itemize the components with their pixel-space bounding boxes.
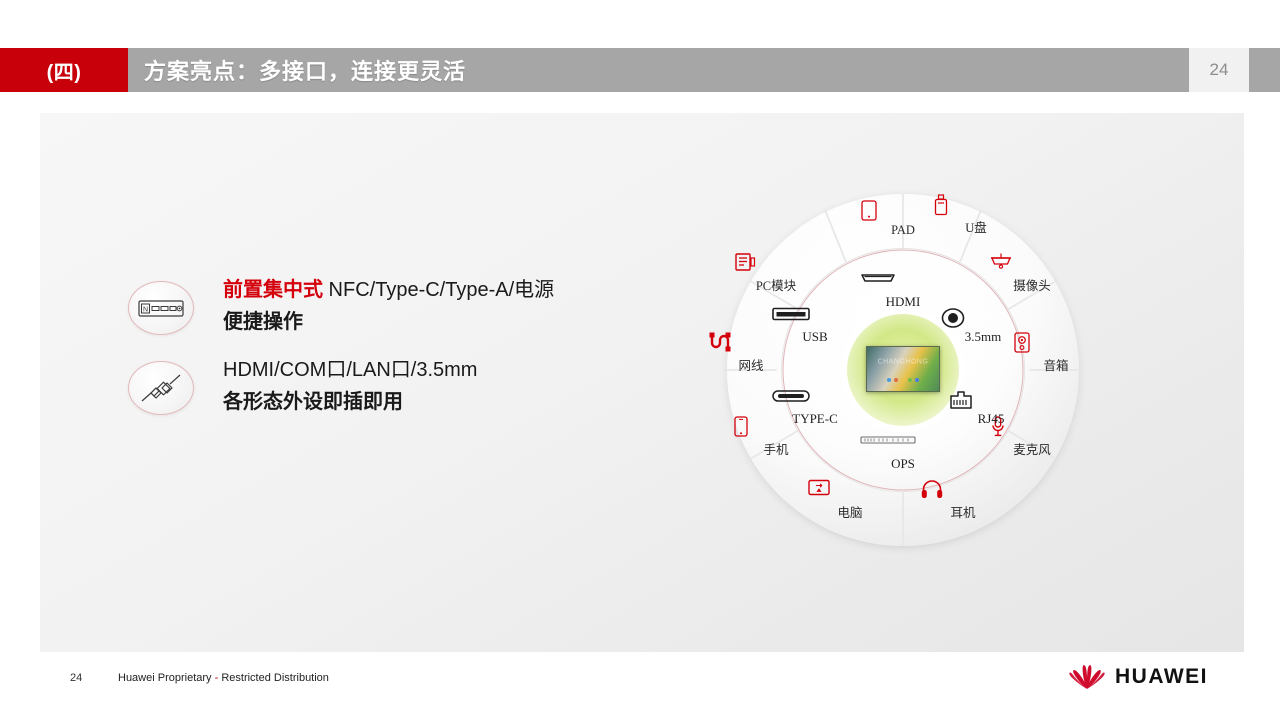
port-label-audio-jack: 3.5mm <box>940 329 1026 345</box>
cable-connector-icon <box>128 361 194 415</box>
headphones-icon <box>921 479 1005 501</box>
audio-jack-icon <box>940 307 1026 329</box>
port-item-ops[interactable]: OPS <box>860 434 946 472</box>
title-band: (四) 方案亮点：多接口，连接更灵活 <box>0 48 1280 92</box>
port-label-type-c: TYPE-C <box>772 411 858 427</box>
ring-label-udisk: U盘 <box>934 217 1018 236</box>
highlight-emphasis: 前置集中式 <box>223 279 323 301</box>
page-number-badge: 24 <box>1189 48 1249 92</box>
tablet-icon <box>861 200 945 222</box>
ops-slot-icon <box>860 434 946 456</box>
footer-notice-before: Huawei Proprietary <box>118 672 215 684</box>
usb-port-icon <box>772 307 858 329</box>
camera-dome-icon <box>990 252 1074 274</box>
highlight-rest: NFC/Type-C/Type-A/电源 <box>323 279 554 301</box>
huawei-wordmark: HUAWEI <box>1115 665 1208 689</box>
slide-root: (四) 方案亮点：多接口，连接更灵活 24 N <box>0 0 1280 720</box>
type-c-port-icon <box>772 389 858 411</box>
highlight-line-2a: HDMI/COM口/LAN口/3.5mm <box>223 355 477 385</box>
page-number-badge-label: 24 <box>1210 60 1229 80</box>
monitor-icon <box>808 479 892 501</box>
port-label-usb: USB <box>772 329 858 345</box>
port-item-usb[interactable]: USB <box>772 307 858 345</box>
svg-text:N: N <box>143 306 148 313</box>
section-number-block: (四) <box>0 48 128 92</box>
speaker-icon <box>1014 332 1098 354</box>
port-item-audio-jack[interactable]: 3.5mm <box>940 307 1026 345</box>
footer-page-number: 24 <box>70 672 82 684</box>
port-label-ops: OPS <box>860 456 946 472</box>
pc-module-icon <box>734 252 818 274</box>
highlight-text-1: 前置集中式 NFC/Type-C/Type-A/电源 便捷操作 <box>223 275 554 339</box>
ring-item-pad[interactable]: PAD <box>861 200 945 238</box>
highlight-row-1: N 前置集中式 NFC/Type-C/Type-A/电源 便捷操作 <box>128 275 648 355</box>
ring-item-computer[interactable]: 电脑 <box>808 479 892 521</box>
usb-flash-icon <box>934 194 1018 216</box>
highlight-line-1b: 便捷操作 <box>223 305 554 339</box>
highlight-line-1a: 前置集中式 NFC/Type-C/Type-A/电源 <box>223 275 554 305</box>
footer-notice-after: Restricted Distribution <box>218 672 329 684</box>
footer-notice: Huawei Proprietary - Restricted Distribu… <box>118 672 329 684</box>
ring-item-pc-module[interactable]: PC模块 <box>734 252 818 294</box>
port-item-hdmi[interactable]: HDMI <box>860 272 946 310</box>
ring-label-pad: PAD <box>861 223 945 238</box>
ring-item-udisk[interactable]: U盘 <box>934 194 1018 236</box>
port-label-hdmi: HDMI <box>860 294 946 310</box>
highlight-line-2b: 各形态外设即插即用 <box>223 385 477 419</box>
front-port-strip-icon: N <box>128 281 194 335</box>
screen-dock-dots <box>887 378 919 382</box>
ring-item-camera[interactable]: 摄像头 <box>990 252 1074 294</box>
ring-label-pc-module: PC模块 <box>734 275 818 294</box>
ring-label-headphones: 耳机 <box>921 502 1005 521</box>
section-number-label: (四) <box>47 56 82 85</box>
highlights-list: N 前置集中式 NFC/Type-C/Type-A/电源 便捷操作 <box>128 275 648 435</box>
hdmi-port-icon <box>860 272 946 294</box>
screen-watermark: CHANGHONG <box>878 358 929 365</box>
ring-item-headphones[interactable]: 耳机 <box>921 479 1005 521</box>
connectivity-ring-diagram: CHANGHONG PAD U盘 摄像头 <box>698 165 1108 565</box>
interactive-panel-screen: CHANGHONG <box>866 346 940 392</box>
port-item-rj45[interactable]: RJ45 <box>948 389 1034 427</box>
ring-label-microphone: 麦克风 <box>990 439 1074 458</box>
huawei-logo: HUAWEI <box>1068 663 1208 691</box>
ring-item-speaker[interactable]: 音箱 <box>1014 332 1098 374</box>
page-title: 方案亮点：多接口，连接更灵活 <box>144 48 466 92</box>
huawei-flower-icon <box>1068 663 1106 691</box>
highlight-row-2: HDMI/COM口/LAN口/3.5mm 各形态外设即插即用 <box>128 355 648 435</box>
rj45-port-icon <box>948 389 1034 411</box>
ring-label-computer: 电脑 <box>808 502 892 521</box>
port-item-type-c[interactable]: TYPE-C <box>772 389 858 427</box>
highlight-text-2: HDMI/COM口/LAN口/3.5mm 各形态外设即插即用 <box>223 355 477 419</box>
ring-label-speaker: 音箱 <box>1014 355 1098 374</box>
ring-label-camera: 摄像头 <box>990 275 1074 294</box>
port-label-rj45: RJ45 <box>948 411 1034 427</box>
ring-label-phone: 手机 <box>734 439 818 458</box>
ring-label-lan-cable: 网线 <box>709 355 793 374</box>
